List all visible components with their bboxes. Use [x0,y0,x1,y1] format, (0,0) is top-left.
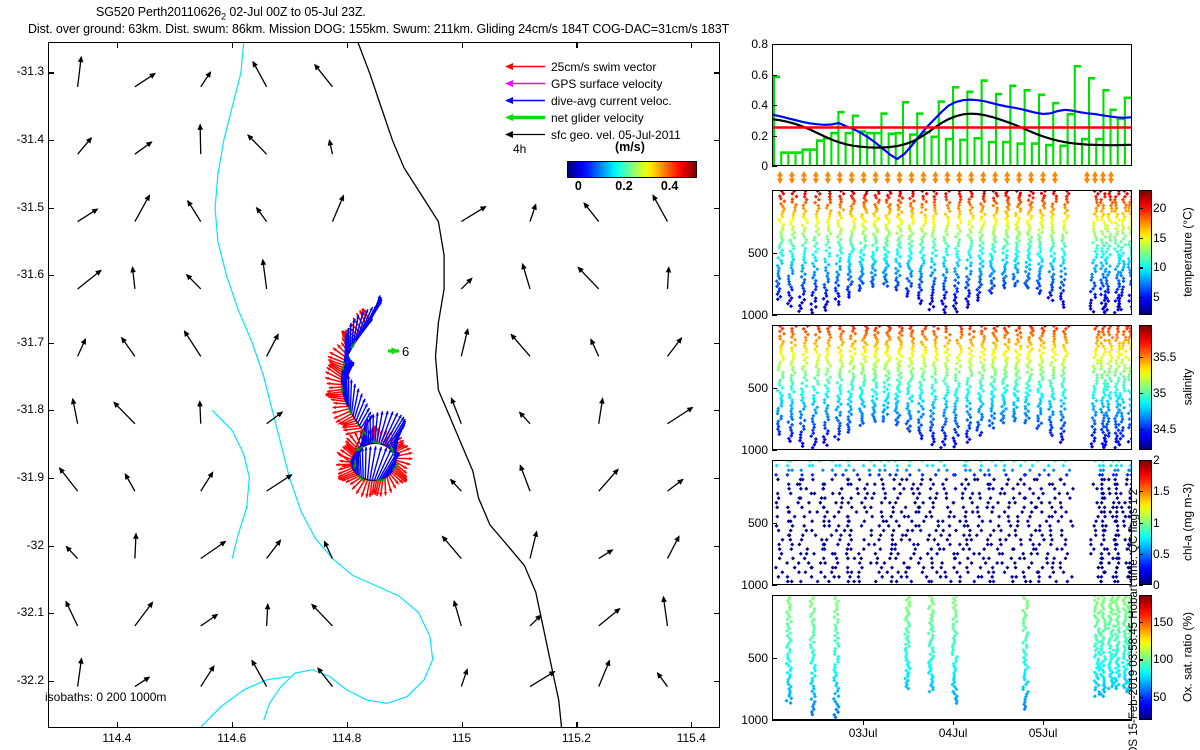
map-xtick-mark-top [232,42,233,48]
left-arrow-icon [505,61,547,72]
legend-entry-label: 25cm/s swim vector [551,60,656,74]
colorbar-tick-label: 100 [1153,652,1173,666]
net-glider-velocity-bars [773,65,1131,165]
panel-ytick-mark [772,136,777,137]
dive-marker [789,171,795,184]
dive-marker [1100,171,1106,184]
colorbar-tick-mark [1139,208,1143,209]
panel-ytick-mark [772,44,777,45]
map-ytick-label: -31.7 [0,335,44,349]
dive-marker [1016,171,1022,184]
map-xtick-mark-top [691,42,692,48]
map-xtick-label: 115 [432,731,492,745]
map-xtick-mark [347,722,348,728]
map-ytick-mark-right [714,72,720,73]
dive-marker [872,171,878,184]
isobath-200m [215,43,433,720]
velocity-colorbar [567,161,697,178]
map-xtick-label: 114.6 [202,731,262,745]
dive-marker [944,171,950,184]
panel-ytick-label: 500 [726,246,768,260]
colorbar-tick-mark [1139,238,1143,239]
colorbar-tick-label: 34.5 [1153,422,1176,436]
map-xtick-mark-top [576,42,577,48]
map-ytick-mark-right [714,140,720,141]
colorbar-tick-label: 2 [1153,453,1160,467]
map-ytick-mark [48,275,54,276]
legend-units-label: (m/s) [615,140,645,154]
chlorophyll-section-panel[interactable] [772,460,1132,585]
colorbar-tick-mark [1139,267,1143,268]
profile-points [776,325,1133,450]
legend-entry-2: dive-avg current veloc. [505,92,710,109]
temperature-section-panel[interactable] [772,190,1132,315]
colorbar-tick-label: 20 [1153,201,1166,215]
map-ytick-mark-right [714,275,720,276]
map-xtick-label: 115.2 [546,731,606,745]
panel-ytick-label: 0 [728,159,768,173]
map-ytick-mark [48,72,54,73]
time-axis-tick-label: 04Jul [939,726,968,740]
map-legend-entries: 25cm/s swim vectorGPS surface velocitydi… [505,58,710,143]
colorbar-tick-mark [1139,585,1143,586]
panel-ytick-mark [772,253,777,254]
colorbar-tick-mark [1139,429,1143,430]
dive-marker [1004,171,1010,184]
map-xtick-label: 115.4 [661,731,721,745]
panel-ytick-label: 0.4 [728,98,768,112]
salinity-section-panel[interactable] [772,325,1132,450]
map-ytick-label: -32.1 [0,605,44,619]
salinity-plot-canvas [773,326,1131,449]
map-ytick-mark-right [714,410,720,411]
colorbar-tick-label: 1.5 [1153,484,1170,498]
colorbar-tick-label: 10 [1153,260,1166,274]
legend-time-scale-label: 4h [513,142,526,156]
map-ytick-mark [48,613,54,614]
map-xtick-mark-top [117,42,118,48]
panel-ytick-mark [772,523,777,524]
dive-marker [1028,171,1034,184]
colorbar-tick-label: 50 [1153,690,1166,704]
map-ytick-mark [48,208,54,209]
dive-marker [920,171,926,184]
dive-marker [1084,171,1090,184]
panel-ytick-mark [772,315,777,316]
velocity-colorbar-tick-label: 0 [575,179,582,193]
figure-title-line-2: Dist. over ground: 63km. Dist. swum: 86k… [28,22,729,36]
panel-ytick-label: 500 [726,381,768,395]
time-axis-line [772,720,1132,721]
panel-ytick-mark [772,105,777,106]
map-ytick-label: -31.9 [0,470,44,484]
legend-entry-label: dive-avg current veloc. [551,94,672,108]
colorbar-tick-label: 1 [1153,516,1160,530]
panel-ytick-label: 0.2 [728,129,768,143]
map-ytick-label: -31.6 [0,267,44,281]
panel-ytick-label: 500 [726,516,768,530]
isobaths-legend-label: isobaths: 0 200 1000m [45,690,166,704]
left-arrow-icon [505,78,547,89]
dive-marker [884,171,890,184]
map-xtick-mark [462,722,463,728]
map-ytick-label: -31.5 [0,200,44,214]
colorbar-tick-mark [1139,659,1143,660]
dive-marker [956,171,962,184]
dive-marker [980,171,986,184]
panel-ytick-mark [772,166,777,167]
profile-points [785,595,1133,719]
dive-marker [908,171,914,184]
map-ytick-label: -31.4 [0,132,44,146]
map-xtick-mark-top [347,42,348,48]
dive-marker [849,171,855,184]
colorbar-tick-label: 0.5 [1153,547,1170,561]
colorbar-tick-label: 5 [1153,290,1160,304]
waypoint-label: 6 [402,344,409,359]
map-xtick-label: 114.8 [317,731,377,745]
panel-ytick-mark [772,585,777,586]
dive-marker [932,171,938,184]
velocity-colorbar-tick-label: 0.2 [615,179,632,193]
map-ytick-mark [48,410,54,411]
left-arrow-icon [505,95,547,106]
map-ytick-label: -31.3 [0,64,44,78]
map-xtick-label: 114.4 [87,731,147,745]
colorbar-tick-mark [1139,523,1143,524]
colorbar-tick-label: 150 [1153,615,1173,629]
time-axis-tick-label: 05Jul [1029,726,1058,740]
velocity-colorbar-tick-label: 0.4 [661,179,678,193]
time-axis-tick-mark [953,720,954,725]
map-xtick-mark [232,722,233,728]
panel-ytick-label: 0.8 [728,37,768,51]
panel-ytick-label: 1000 [726,713,768,727]
colorbar-oxy [1139,595,1152,720]
time-axis-tick-mark [1043,720,1044,725]
velocity-colorbar-ticks: 00.20.4 [567,178,697,194]
map-ytick-mark [48,681,54,682]
map-ytick-label: -32.2 [0,673,44,687]
map-ytick-mark [48,140,54,141]
map-ytick-mark [48,478,54,479]
left-arrow-icon [505,112,547,123]
panel-ytick-label: 1000 [726,578,768,592]
profile-points [774,460,1132,584]
map-ytick-mark [48,546,54,547]
isobath-0m [212,410,249,558]
colorbar-tick-label: 35.5 [1153,350,1176,364]
mission-daterange: 02-Jul 00Z to 05-Jul 23Z. [226,5,366,19]
dive-marker [1052,171,1058,184]
legend-entry-1: GPS surface velocity [505,75,710,92]
colorbar-tick-mark [1139,697,1143,698]
profile-points [775,190,1132,315]
dive-marker [992,171,998,184]
velocity-plot-canvas [773,45,1131,165]
glider-mission-figure: SG520 Perth201106262 02-Jul 00Z to 05-Ju… [0,0,1200,750]
colorbar-tick-mark [1139,491,1143,492]
sfc-geostrophic-velocity-field [60,57,693,687]
legend-colorbar-wrap: 00.20.4 [567,161,697,194]
oxygen-section-panel[interactable] [772,595,1132,720]
panel-ytick-label: 1000 [726,443,768,457]
colorbar-tick-mark [1139,460,1143,461]
map-legend: 25cm/s swim vectorGPS surface velocitydi… [505,58,710,143]
colorbar-tick-label: 15 [1153,231,1166,245]
legend-entry-label: GPS surface velocity [551,77,662,91]
map-ytick-mark [48,343,54,344]
colorbar-tick-mark [1139,622,1143,623]
colorbar-tick-mark [1139,554,1143,555]
dive-marker [896,171,902,184]
dive-marker [1092,171,1098,184]
colorbar-tick-mark [1139,357,1143,358]
dive-marker [813,171,819,184]
panel-ytick-mark [772,450,777,451]
dive-marker [1108,171,1114,184]
dive-marker [860,171,866,184]
map-ytick-mark-right [714,546,720,547]
figure-title-line-1: SG520 Perth201106262 02-Jul 00Z to 05-Ju… [96,5,366,22]
colorbar-tick-label: 35 [1153,386,1166,400]
colorbar-label: Ox. sat. ratio (%) [1180,560,1194,750]
dive-marker [801,171,807,184]
dive-profile-markers [772,166,1136,186]
panel-ytick-mark [772,75,777,76]
oxygen-plot-canvas [773,596,1131,719]
dive-marker [837,171,843,184]
isobath-1000m [201,677,290,728]
map-xtick-mark [576,722,577,728]
map-ytick-mark-right [714,208,720,209]
temperature-plot-canvas [773,191,1131,314]
colorbar-tick-mark [1139,393,1143,394]
colorbar-tick-mark [1139,297,1143,298]
map-xtick-mark [691,722,692,728]
dive-marker [968,171,974,184]
colorbar-sal [1139,325,1152,450]
panel-ytick-label: 500 [726,651,768,665]
map-ytick-mark-right [714,613,720,614]
panel-ytick-label: 0.6 [728,68,768,82]
velocity-magnitude-panel[interactable] [772,44,1132,166]
legend-entry-0: 25cm/s swim vector [505,58,710,75]
time-axis-tick-mark [863,720,864,725]
mission-id: SG520 Perth20110626 [96,5,221,19]
map-ytick-mark-right [714,478,720,479]
left-arrow-icon [505,129,547,140]
map-xtick-mark [117,722,118,728]
time-axis-tick-label: 03Jul [849,726,878,740]
dive-marker [825,171,831,184]
map-ytick-label: -32 [0,538,44,552]
map-ytick-label: -31.8 [0,402,44,416]
panel-ytick-mark [772,388,777,389]
panel-ytick-label: 1000 [726,308,768,322]
legend-entry-3: net glider velocity [505,109,710,126]
chlorophyll-plot-canvas [773,461,1131,584]
map-ytick-mark-right [714,681,720,682]
map-ytick-mark-right [714,343,720,344]
dive-marker [1040,171,1046,184]
colorbar-tick-label: 0 [1153,578,1160,592]
dive-marker [777,171,783,184]
legend-entry-4: sfc geo. vel. 05-Jul-2011 [505,126,710,143]
map-xtick-mark-top [462,42,463,48]
panel-ytick-mark [772,658,777,659]
legend-entry-label: net glider velocity [551,111,644,125]
